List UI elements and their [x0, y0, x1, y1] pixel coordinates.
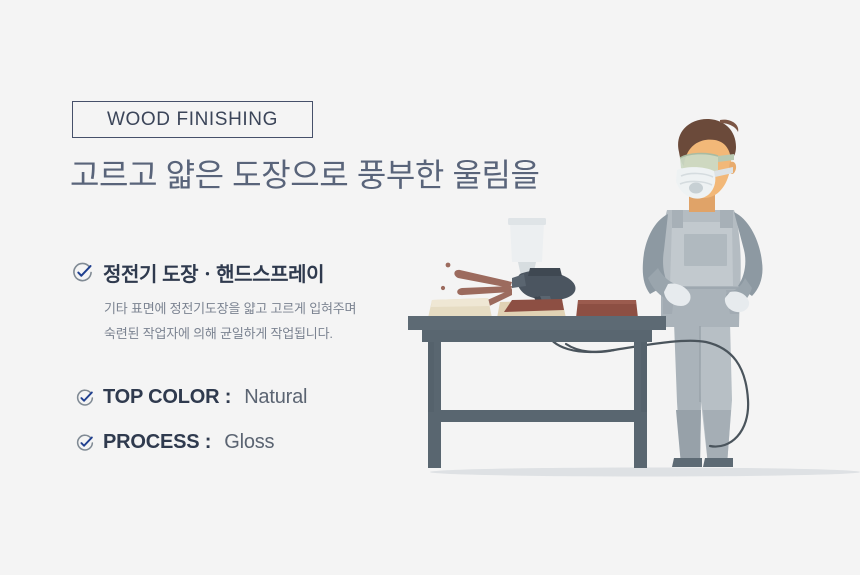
feature-heading: 정전기 도장ㆍ핸드스프레이	[72, 258, 452, 287]
section-badge-label: WOOD FINISHING	[107, 110, 278, 129]
spec-value-top-color: Natural	[244, 386, 307, 409]
feature-block: 정전기 도장ㆍ핸드스프레이 기타 표면에 정전기도장을 얇고 고르게 입혀주며 …	[72, 258, 452, 347]
boot-far	[676, 410, 701, 465]
spec-row-top-color: TOP COLOR : Natural	[76, 386, 307, 409]
spec-label-top-color: TOP COLOR :	[103, 386, 231, 409]
spray-cup	[510, 223, 544, 262]
wood-piece-dark-edge	[578, 300, 636, 304]
spray-cup-lid	[508, 218, 546, 225]
mask-valve	[689, 183, 703, 194]
table-apron	[422, 330, 652, 342]
table-rail-left	[428, 342, 434, 412]
check-circle-icon	[76, 434, 94, 452]
spec-row-process: PROCESS : Gloss	[76, 431, 274, 454]
spray-gun-top	[528, 268, 562, 276]
wood-piece-light-edge	[431, 298, 490, 307]
feature-title: 정전기 도장ㆍ핸드스프레이	[103, 258, 324, 287]
spray-gun-nozzle	[512, 274, 526, 288]
bib-strap-right	[720, 210, 733, 228]
bib-strap-left	[672, 210, 683, 228]
spray-dot-2	[441, 286, 445, 290]
shoe-far	[672, 458, 702, 467]
shoe-near	[703, 458, 733, 467]
spray-streak-1	[454, 270, 512, 288]
check-circle-icon	[72, 262, 93, 283]
promo-banner: WOOD FINISHING 고르고 얇은 도장으로 풍부한 울림을 정전기 도…	[0, 0, 860, 575]
table-rail-right	[641, 342, 647, 412]
spray-dot-1	[446, 263, 451, 268]
spec-value-process: Gloss	[224, 431, 274, 454]
ground-shadow	[430, 468, 860, 477]
check-circle-icon	[76, 389, 94, 407]
worker-spray-painting-illustration	[400, 110, 860, 510]
spec-label-process: PROCESS :	[103, 431, 211, 454]
chest-pocket	[684, 234, 727, 266]
wood-piece-mid-top	[504, 299, 564, 312]
table-brace	[428, 410, 647, 422]
section-badge: WOOD FINISHING	[72, 101, 313, 138]
table-top	[408, 316, 666, 330]
